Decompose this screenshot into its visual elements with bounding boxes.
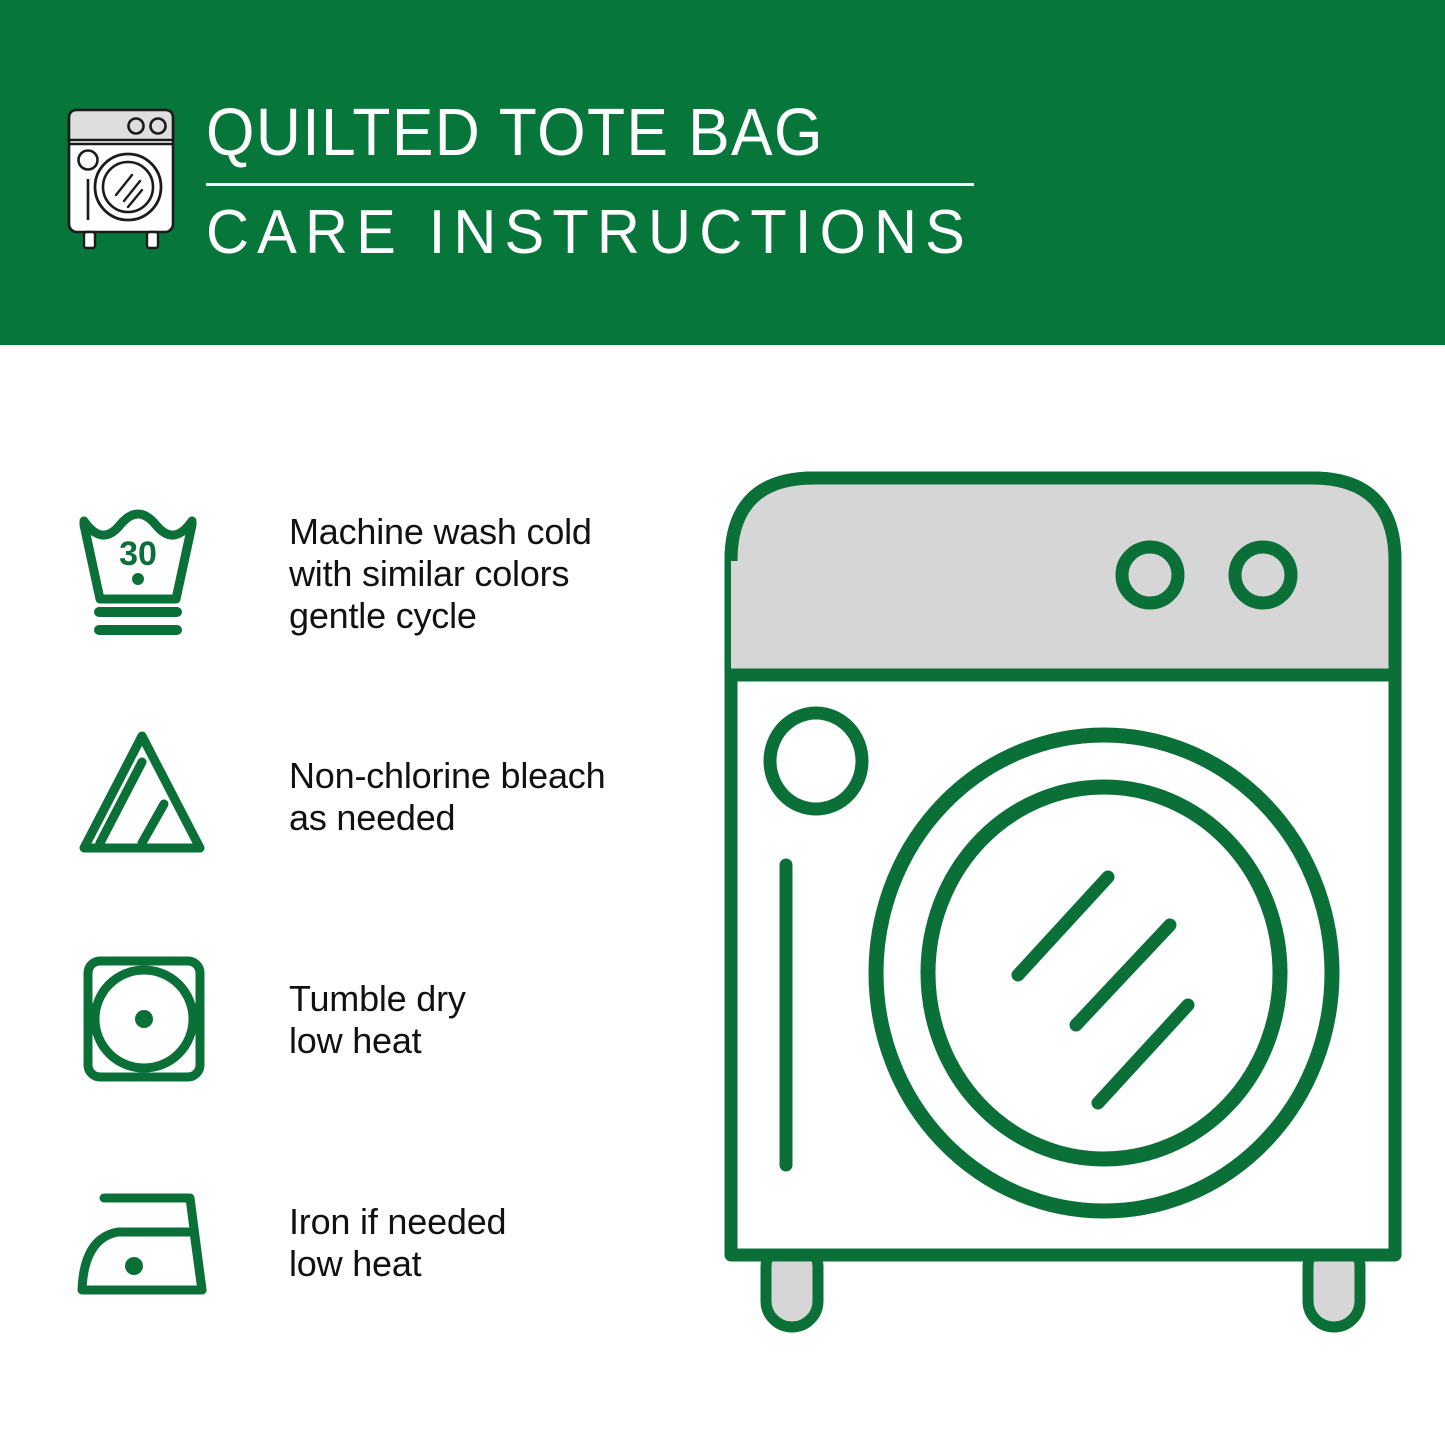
care-item-label: Non-chlorine bleach as needed (289, 755, 605, 839)
washing-machine-icon (62, 100, 180, 252)
header-banner: QUILTED TOTE BAG CARE INSTRUCTIONS (0, 0, 1445, 345)
title-divider (206, 183, 974, 186)
care-item-label: Iron if needed low heat (289, 1201, 506, 1285)
care-symbol-wrapper (72, 1163, 232, 1323)
page-subtitle: CARE INSTRUCTIONS (206, 199, 964, 267)
care-item-label: Machine wash cold with similar colors ge… (289, 511, 592, 637)
list-item: Non-chlorine bleach as needed (72, 713, 692, 881)
list-item: Tumble dry low heat (72, 936, 692, 1104)
care-instruction-list: 30 Machine wash cold with similar colors… (72, 490, 692, 1327)
care-symbol-wrapper (72, 717, 232, 877)
header-content: QUILTED TOTE BAG CARE INSTRUCTIONS (62, 96, 996, 267)
wash-temperature-value: 30 (119, 535, 157, 573)
list-item: Iron if needed low heat (72, 1159, 692, 1327)
header-text-block: QUILTED TOTE BAG CARE INSTRUCTIONS (206, 96, 996, 267)
iron-low-heat-icon (72, 1168, 232, 1318)
washing-machine-illustration (718, 465, 1408, 1365)
page-title: QUILTED TOTE BAG (206, 96, 941, 170)
machine-wash-cold-30-gentle-icon: 30 (72, 499, 232, 649)
body-area: 30 Machine wash cold with similar colors… (0, 345, 1445, 1445)
list-item: 30 Machine wash cold with similar colors… (72, 490, 692, 658)
tumble-dry-low-heat-icon (72, 945, 232, 1095)
care-item-label: Tumble dry low heat (289, 978, 466, 1062)
care-instructions-page: QUILTED TOTE BAG CARE INSTRUCTIONS 30 (0, 0, 1445, 1445)
care-symbol-wrapper: 30 (72, 494, 232, 654)
non-chlorine-bleach-triangle-icon (72, 722, 232, 872)
care-symbol-wrapper (72, 940, 232, 1100)
